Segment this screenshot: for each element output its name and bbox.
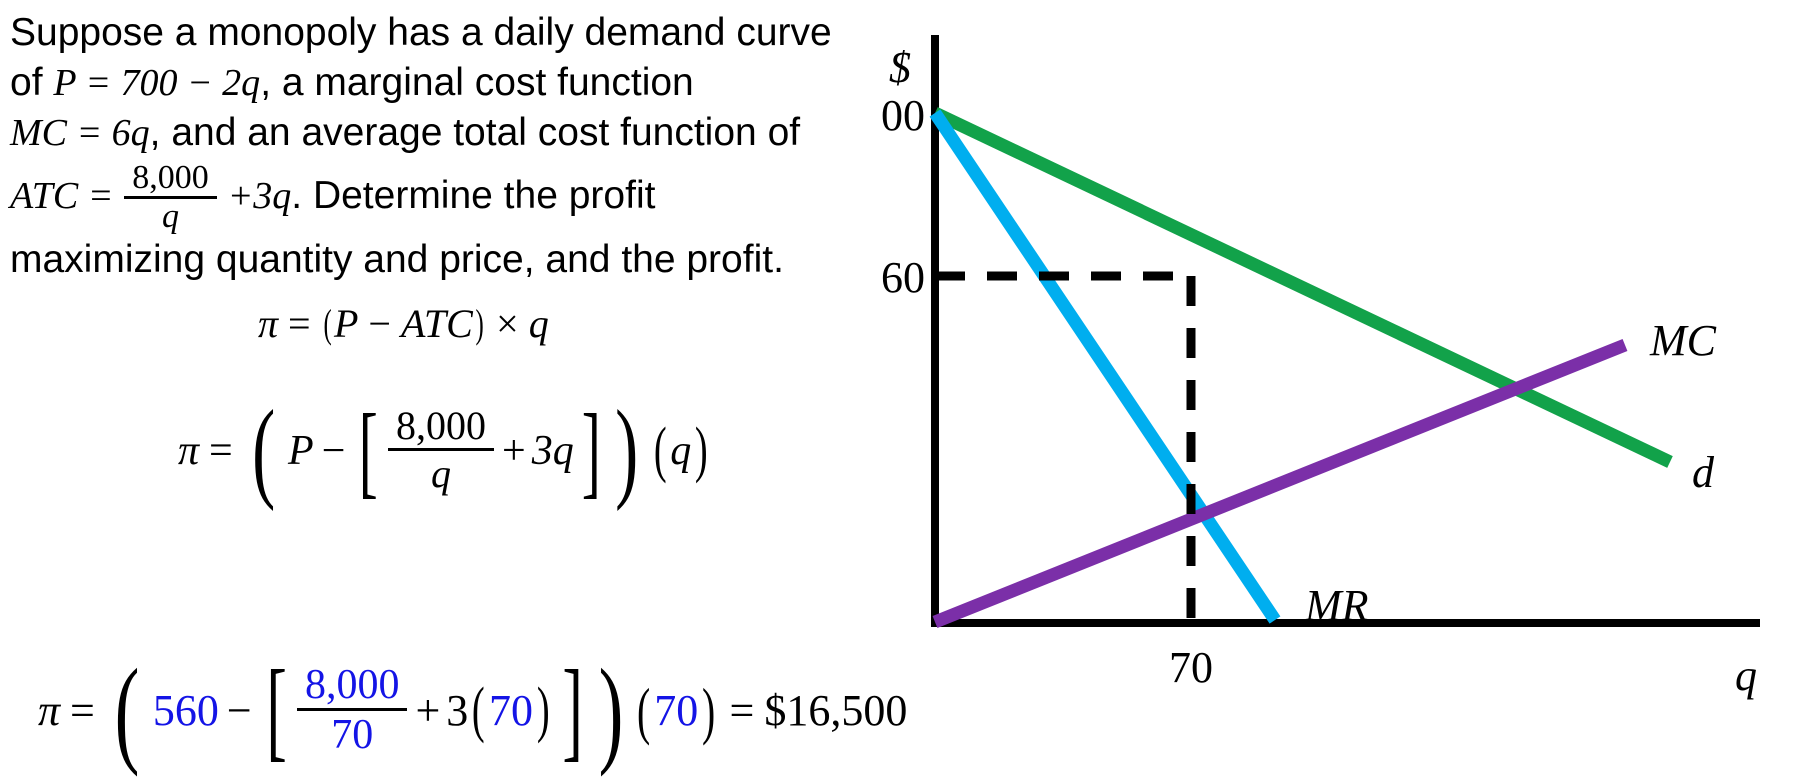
eq2-tail-quantity: q xyxy=(670,427,691,475)
x-tick-70: 70 xyxy=(1169,643,1213,692)
eq2-denominator: q xyxy=(388,448,494,497)
eq3-coefficient: 3 xyxy=(446,685,468,736)
eq1-atc: ATC xyxy=(401,301,473,346)
eq3-minus: − xyxy=(227,685,252,736)
problem-line-2-suffix: , a marginal cost function xyxy=(260,61,694,104)
eq3-q-close-paren: ) xyxy=(537,686,550,736)
problem-line-4-suffix: . Determine the profit xyxy=(291,174,655,217)
problem-line-5-text: maximizing quantity and price, and the p… xyxy=(10,238,784,281)
y-tick-700: $700 xyxy=(880,91,925,140)
eq2-tail-close-paren: ) xyxy=(695,426,708,476)
atc-denominator: q xyxy=(124,196,217,235)
eq2-plus: + xyxy=(502,427,526,475)
eq1-times: × xyxy=(496,301,519,346)
eq3-equals: = xyxy=(70,685,95,736)
eq3-close-bracket: ] xyxy=(562,666,583,756)
demand-curve-label: d xyxy=(1692,448,1715,497)
eq3-denominator: 70 xyxy=(297,708,408,759)
eq3-tail-close-paren: ) xyxy=(702,685,715,736)
eq2-pi: π xyxy=(178,427,199,475)
problem-line-1: Suppose a monopoly has a daily demand cu… xyxy=(10,8,870,58)
slide-canvas: Suppose a monopoly has a daily demand cu… xyxy=(0,0,1799,784)
eq2-open-paren: ( xyxy=(252,406,275,496)
eq3-pi: π xyxy=(38,685,60,736)
eq2-linear-term: 3q xyxy=(532,427,574,475)
demand-equation-inline: P = 700 − 2q xyxy=(53,62,260,104)
eq1-close-paren: ) xyxy=(475,300,483,347)
atc-linear-term: +3q xyxy=(228,175,292,217)
marginal-revenue-curve-label: MR xyxy=(1304,581,1369,630)
eq3-q-open-paren: ( xyxy=(472,686,485,736)
eq3-tail-open-paren: ( xyxy=(637,685,650,736)
eq2-close-paren: ) xyxy=(615,406,638,496)
atc-label: ATC = xyxy=(10,175,113,217)
eq3-open-paren: ( xyxy=(114,663,139,759)
eq3-numerator: 8,000 xyxy=(297,662,408,708)
problem-statement: Suppose a monopoly has a daily demand cu… xyxy=(10,8,870,285)
marginal-cost-curve-label: MC xyxy=(1649,316,1717,365)
marginal-cost-equation-inline: MC = 6q xyxy=(10,112,150,154)
eq3-atc-fraction: 8,000 70 xyxy=(297,662,408,759)
problem-line-1-text: Suppose a monopoly has a daily demand cu… xyxy=(10,11,832,54)
problem-line-2: of P = 700 − 2q, a marginal cost functio… xyxy=(10,58,870,108)
y-axis-label: $ xyxy=(889,43,911,92)
problem-line-2-prefix: of xyxy=(10,61,53,104)
eq1-quantity: q xyxy=(529,301,549,346)
atc-fraction: 8,000 q xyxy=(124,160,217,235)
eq1-equals: = xyxy=(288,301,311,346)
eq2-tail-open-paren: ( xyxy=(654,426,667,476)
marginal-cost-curve xyxy=(935,345,1625,622)
eq3-close-paren: ) xyxy=(599,663,624,759)
problem-line-3: MC = 6q, and an average total cost funct… xyxy=(10,108,870,158)
eq2-open-bracket: [ xyxy=(359,409,378,492)
problem-line-3-suffix: , and an average total cost function of xyxy=(150,111,800,154)
problem-line-4: ATC = 8,000 q +3q. Determine the profit xyxy=(10,158,870,235)
eq1-minus: − xyxy=(368,301,391,346)
eq1-pi: π xyxy=(258,301,278,346)
eq3-open-bracket: [ xyxy=(266,666,287,756)
eq2-minus: − xyxy=(322,427,346,475)
eq2-equals: = xyxy=(209,427,233,475)
eq1-open-paren: ( xyxy=(323,300,331,347)
eq3-quantity-value: 70 xyxy=(489,685,533,736)
monopoly-graph: $ q $700 $560 70 MC d MR xyxy=(880,0,1799,784)
profit-substituted-equation: π = ( P − [ 8,000 q + 3q ] ) ( q ) xyxy=(178,404,712,497)
eq3-price-value: 560 xyxy=(153,685,219,736)
eq3-plus: + xyxy=(415,685,440,736)
atc-numerator: 8,000 xyxy=(124,160,217,196)
problem-line-5: maximizing quantity and price, and the p… xyxy=(10,235,870,285)
eq3-tail-quantity: 70 xyxy=(654,685,698,736)
eq1-price: P xyxy=(334,301,358,346)
profit-evaluated-equation: π = ( 560 − [ 8,000 70 + 3 ( 70 ) ] ) ( … xyxy=(38,662,907,759)
y-tick-560: $560 xyxy=(880,253,925,302)
eq2-atc-fraction: 8,000 q xyxy=(388,404,494,497)
eq2-numerator: 8,000 xyxy=(388,404,494,448)
eq2-close-bracket: ] xyxy=(581,409,600,492)
eq3-second-equals: = xyxy=(730,685,755,736)
x-axis-label: q xyxy=(1735,651,1757,700)
eq2-price: P xyxy=(288,427,314,475)
profit-formula-equation: π = (P − ATC) × q xyxy=(258,300,549,347)
